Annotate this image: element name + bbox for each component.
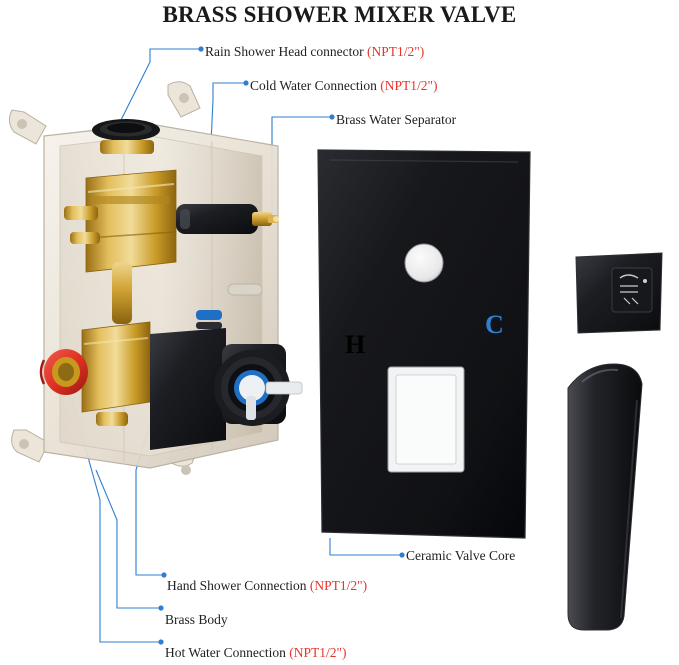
callout-label: Hot Water Connection [165,645,289,660]
callout-label: Ceramic Valve Core [406,548,515,563]
callout-rain-shower-head-connector: Rain Shower Head connector (NPT1/2") [205,44,424,60]
callout-spec: (NPT1/2") [367,44,424,59]
callout-label: Brass Water Separator [336,112,456,127]
callout-label: Hand Shower Connection [167,578,310,593]
hot-marking: H [345,330,365,360]
callout-hot-water-connection: Hot Water Connection (NPT1/2") [165,645,347,661]
cold-marking: C [485,310,504,340]
callout-brass-body: Brass Body [165,612,228,628]
exploded-diagram-page: BRASS SHOWER MIXER VALVE [0,0,679,665]
callout-spec: (NPT1/2") [289,645,346,660]
brass-valve-body-assembly [9,82,302,475]
diagram-artwork [0,0,679,665]
callout-hand-shower-connection: Hand Shower Connection (NPT1/2") [167,578,367,594]
black-lever-handle [568,364,642,630]
callout-ceramic-valve-core: Ceramic Valve Core [406,548,515,564]
callout-spec: (NPT1/2") [380,78,437,93]
callout-label: Cold Water Connection [250,78,380,93]
callout-spec: (NPT1/2") [310,578,367,593]
black-diverter-knob [576,253,662,333]
callout-label: Brass Body [165,612,228,627]
callout-brass-water-separator: Brass Water Separator [336,112,456,128]
callout-label: Rain Shower Head connector [205,44,367,59]
callout-cold-water-connection: Cold Water Connection (NPT1/2") [250,78,438,94]
